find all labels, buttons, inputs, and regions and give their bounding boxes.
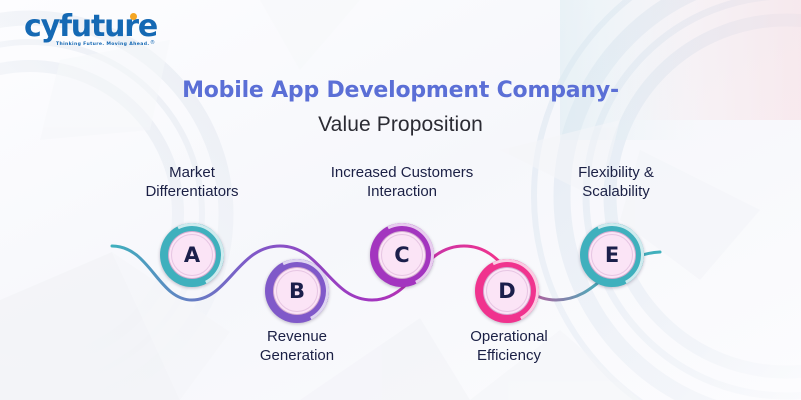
brand-logo[interactable]: cyfuture Thinking Future. Moving Ahead. …: [24, 12, 164, 54]
page-title: Mobile App Development Company- Value Pr…: [0, 76, 801, 141]
title-line-primary: Mobile App Development Company-: [0, 76, 801, 106]
logo-dot-icon: [130, 13, 137, 20]
brand-wordmark: cyfuture: [24, 12, 164, 42]
node-label-e: Flexibility & Scalability: [528, 163, 704, 201]
node-letter-d: D: [498, 281, 515, 302]
brand-tagline: Thinking Future. Moving Ahead.: [56, 42, 149, 47]
node-circle-b[interactable]: B: [265, 259, 329, 323]
node-circle-c[interactable]: C: [370, 223, 434, 287]
node-letter-e: E: [605, 245, 619, 266]
title-line-secondary: Value Proposition: [0, 109, 801, 141]
node-circle-d[interactable]: D: [475, 259, 539, 323]
node-label-d: Operational Efficiency: [420, 327, 598, 365]
node-circle-e[interactable]: E: [580, 223, 644, 287]
node-letter-a: A: [184, 245, 200, 266]
node-letter-c: C: [394, 245, 409, 266]
node-label-c: Increased Customers Interaction: [298, 163, 506, 201]
node-circle-a[interactable]: A: [160, 223, 224, 287]
node-label-a: Market Differentiators: [108, 163, 276, 201]
registered-mark: ®: [150, 40, 155, 46]
node-label-b: Revenue Generation: [208, 327, 386, 365]
node-letter-b: B: [289, 281, 305, 302]
infographic-canvas: cyfuture Thinking Future. Moving Ahead. …: [0, 0, 801, 400]
